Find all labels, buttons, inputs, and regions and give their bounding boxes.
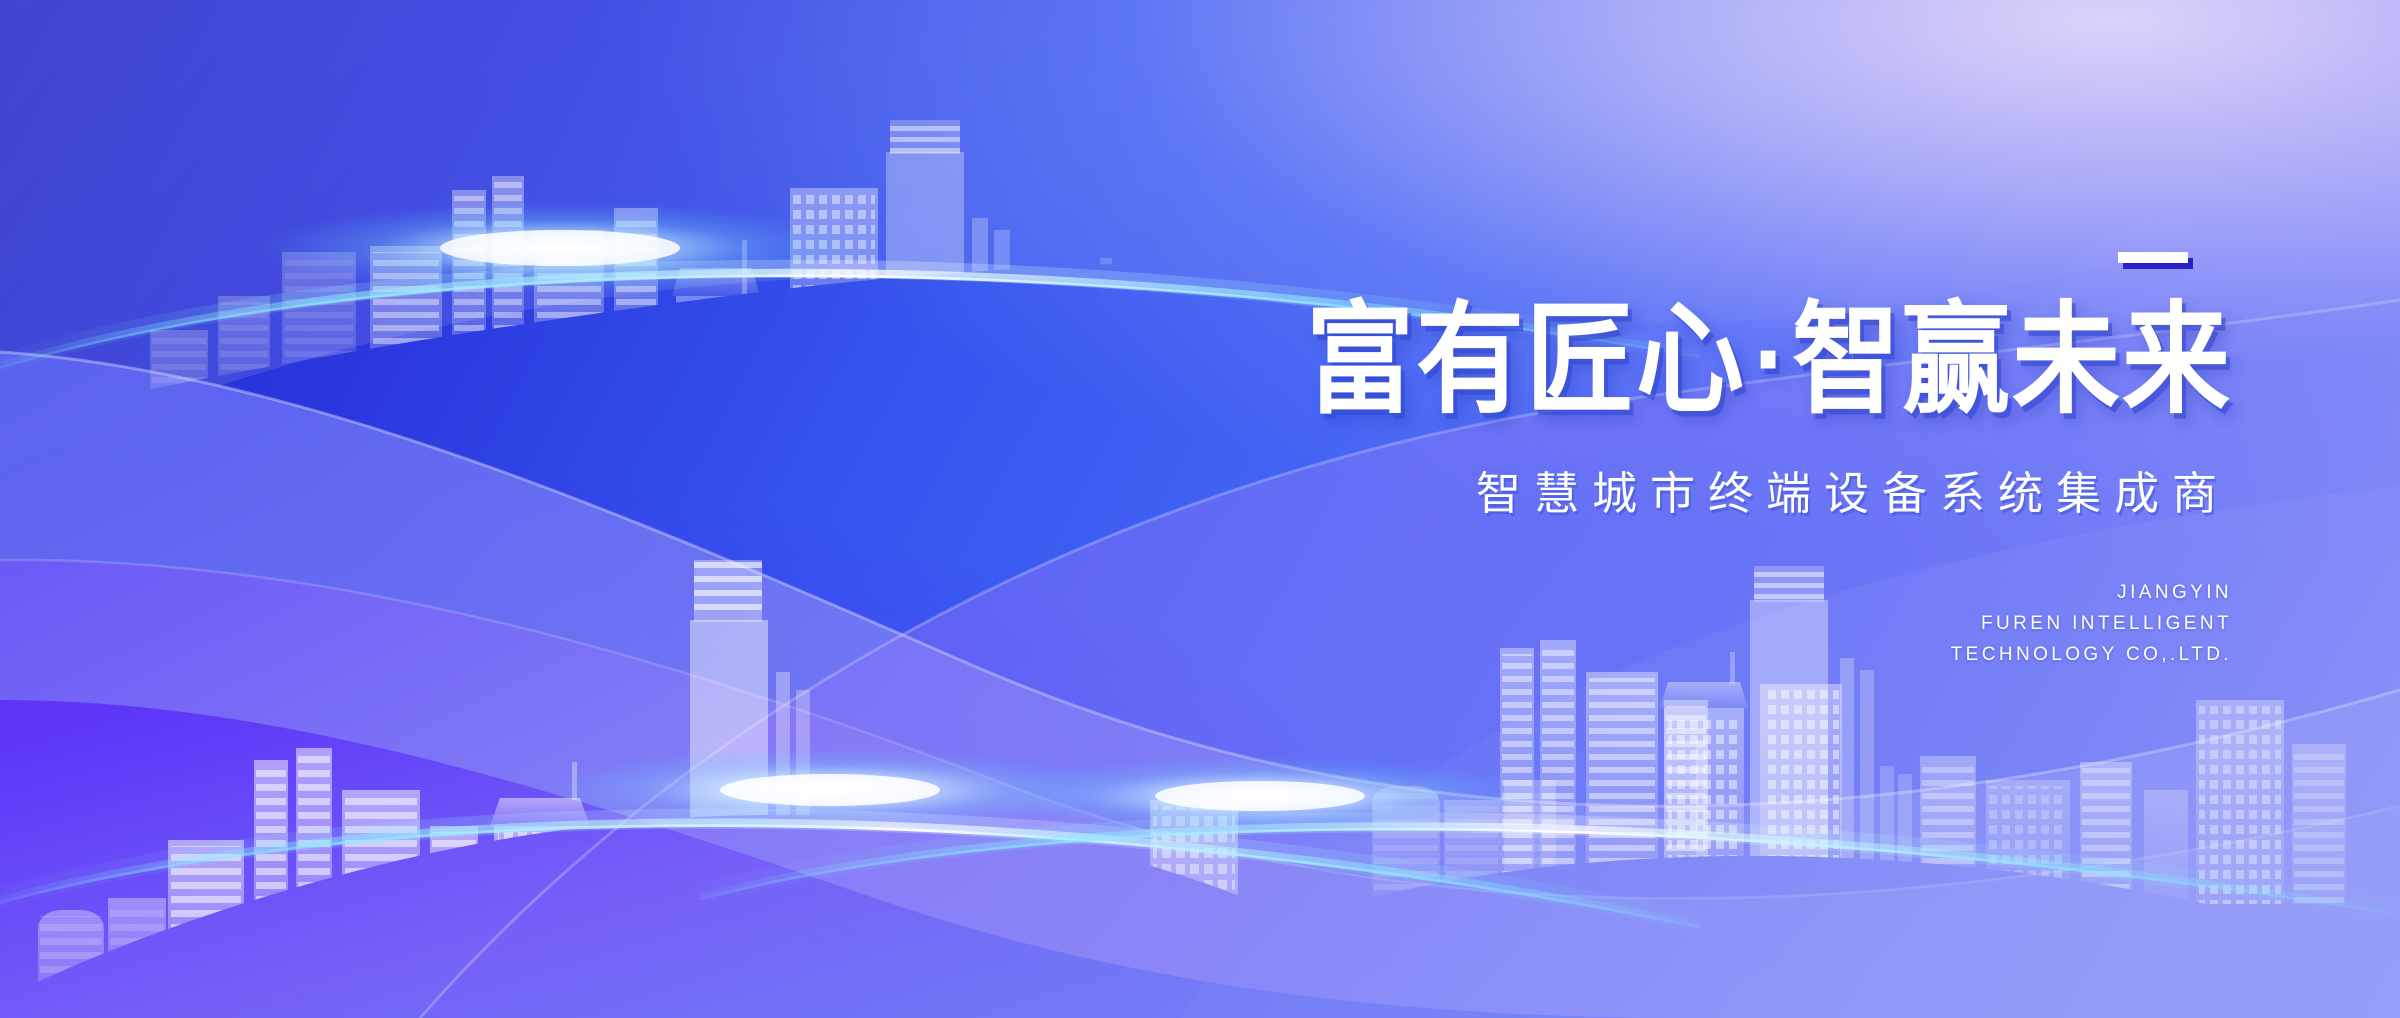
company-line-3: TECHNOLOGY CO,.LTD. (1102, 640, 2232, 671)
headline-separator-dot: · (1746, 305, 1792, 415)
headline-block: 富有匠心·智赢未来 智慧城市终端设备系统集成商 JIANGYIN FUREN I… (1102, 252, 2232, 671)
company-name-block: JIANGYIN FUREN INTELLIGENT TECHNOLOGY CO… (1102, 578, 2232, 670)
page-title: 富有匠心·智赢未来 (1102, 297, 2232, 424)
page-subtitle: 智慧城市终端设备系统集成商 (1102, 457, 2232, 522)
company-line-1: JIANGYIN (1102, 578, 2232, 609)
building-group-br-right (1880, 700, 2346, 904)
company-line-2: FUREN INTELLIGENT (1102, 609, 2232, 640)
banner-poster: 富有匠心·智赢未来 智慧城市终端设备系统集成商 JIANGYIN FUREN I… (0, 0, 2400, 1018)
building-br-crowned (1660, 652, 1748, 904)
headline-right-text: 智赢未来 (1792, 290, 2232, 430)
headline-left-text: 富有匠心 (1306, 290, 1746, 430)
horizontal-dash-icon (2118, 252, 2188, 263)
